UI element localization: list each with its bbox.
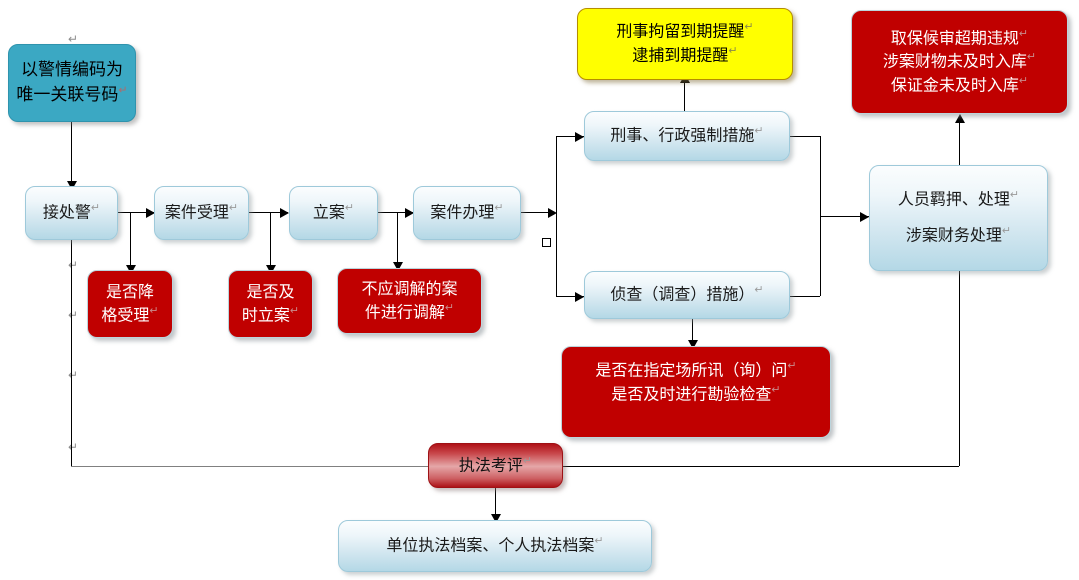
alert-quebao-line-3: 保证金未及时入库↵ (891, 74, 1028, 98)
alert-jiangge-line-2: 格受理↵ (101, 304, 158, 328)
alert-buying-tiaojie[interactable]: 不应调解的案 件进行调解↵ (337, 268, 482, 334)
connector-zhencha-merge (789, 296, 820, 297)
arrowhead-right-lian (280, 208, 289, 218)
alert-xunwen-kanyan[interactable]: 是否在指定场所讯（询）问↵ 是否及时进行勘验检查↵ (561, 346, 831, 438)
node-qiangzhi-label: 刑事、行政强制措施↵ (610, 124, 763, 148)
alert-tiaojie-line-2: 件进行调解↵ (365, 301, 454, 325)
node-lian[interactable]: 立案↵ (289, 186, 378, 240)
arrowhead-up-alert-quebao (955, 114, 965, 123)
node-jiya-line-1: 人员羁押、处理↵ (898, 188, 1019, 212)
node-lian-label: 立案↵ (313, 201, 354, 225)
alert-quebao-line-2: 涉案财物未及时入库↵ (883, 50, 1036, 74)
arrowhead-right-jiya (860, 212, 869, 222)
connector-to-alert-jishi-lian (270, 212, 271, 270)
alert-jiangge-shouli[interactable]: 是否降 格受理↵ (87, 270, 173, 338)
node-zhifa-dangan[interactable]: 单位执法档案、个人执法档案↵ (338, 520, 652, 572)
node-renyuan-jiya[interactable]: 人员羁押、处理↵ 涉案财务处理↵ (869, 165, 1048, 271)
alert-jishi-lian[interactable]: 是否及 时立案↵ (228, 270, 313, 338)
node-shouli[interactable]: 案件受理↵ (154, 186, 249, 240)
paragraph-mark: ↵ (68, 258, 78, 272)
connector-start-to-jiechujing (71, 122, 72, 184)
arrowhead-right-qiangzhi (575, 132, 584, 142)
arrowhead-right-zhencha (575, 292, 584, 302)
node-jiya-line-2: 涉案财务处理↵ (906, 224, 1011, 248)
alert-quebao-line-1: 取保候审超期违规↵ (891, 27, 1028, 51)
node-jiechujing[interactable]: 接处警↵ (25, 186, 118, 240)
node-start[interactable]: 以警情编码为 唯一关联号码↵ (8, 44, 136, 122)
node-shouli-label: 案件受理↵ (165, 201, 238, 225)
alert-jiangge-line-1: 是否降 (106, 281, 154, 304)
node-zhifa-kaoping[interactable]: 执法考评↵ (428, 443, 563, 488)
alert-quebao-chaoqi[interactable]: 取保候审超期违规↵ 涉案财物未及时入库↵ 保证金未及时入库↵ (851, 10, 1068, 114)
reminder-line-1: 刑事拘留到期提醒↵ (616, 20, 753, 44)
reminder-line-2: 逮捕到期提醒↵ (632, 44, 737, 68)
alert-jishi-lian-line-1: 是否及 (246, 281, 294, 304)
node-jiechujing-label: 接处警↵ (43, 201, 100, 225)
connector-to-alert-jiangge (130, 212, 131, 270)
paragraph-mark: ↵ (68, 308, 78, 322)
connector-to-alert-tiaojie (397, 212, 398, 267)
node-kaoping-label: 执法考评↵ (459, 454, 532, 478)
node-start-line-2: 唯一关联号码↵ (16, 83, 127, 108)
alert-xunwen-line-2: 是否及时进行勘验检查↵ (611, 383, 780, 407)
node-banli[interactable]: 案件办理↵ (413, 186, 521, 240)
connector-qiangzhi-merge (789, 136, 820, 137)
node-qiangzhi-cuoshi[interactable]: 刑事、行政强制措施↵ (584, 111, 790, 161)
connector-handle-marker[interactable] (542, 238, 551, 247)
connector-right-feedback-vertical (959, 270, 960, 466)
node-banli-label: 案件办理↵ (430, 201, 503, 225)
connector-qiangzhi-to-reminder (684, 80, 685, 114)
connector-jiya-to-alert-quebao (959, 120, 960, 166)
arrowhead-right-branch (548, 208, 557, 218)
node-dangan-label: 单位执法档案、个人执法档案↵ (386, 534, 603, 558)
reminder-daoqi[interactable]: 刑事拘留到期提醒↵ 逮捕到期提醒↵ (577, 8, 793, 80)
alert-jishi-lian-line-2: 时立案↵ (242, 304, 299, 328)
alert-tiaojie-line-1: 不应调解的案 (361, 278, 457, 301)
node-start-line-1: 以警情编码为 (21, 58, 123, 83)
paragraph-mark: ↵ (68, 440, 78, 454)
alert-xunwen-line-1: 是否在指定场所讯（询）问↵ (595, 359, 796, 383)
connector-left-feedback-vertical (71, 240, 72, 466)
connector-left-feedback-horizontal (71, 466, 431, 467)
node-zhencha-label: 侦查（调查）措施）↵ (610, 283, 763, 307)
paragraph-mark: ↵ (68, 368, 78, 382)
connector-evaluation-right (563, 466, 959, 467)
node-zhencha-cuoshi[interactable]: 侦查（调查）措施）↵ (584, 271, 790, 319)
flowchart-canvas: ↵ ↵ ↵ ↵ ↵ 以警情编码为 唯一关联号码↵ 接处警↵ 案件受理↵ 立案↵ … (0, 0, 1079, 580)
